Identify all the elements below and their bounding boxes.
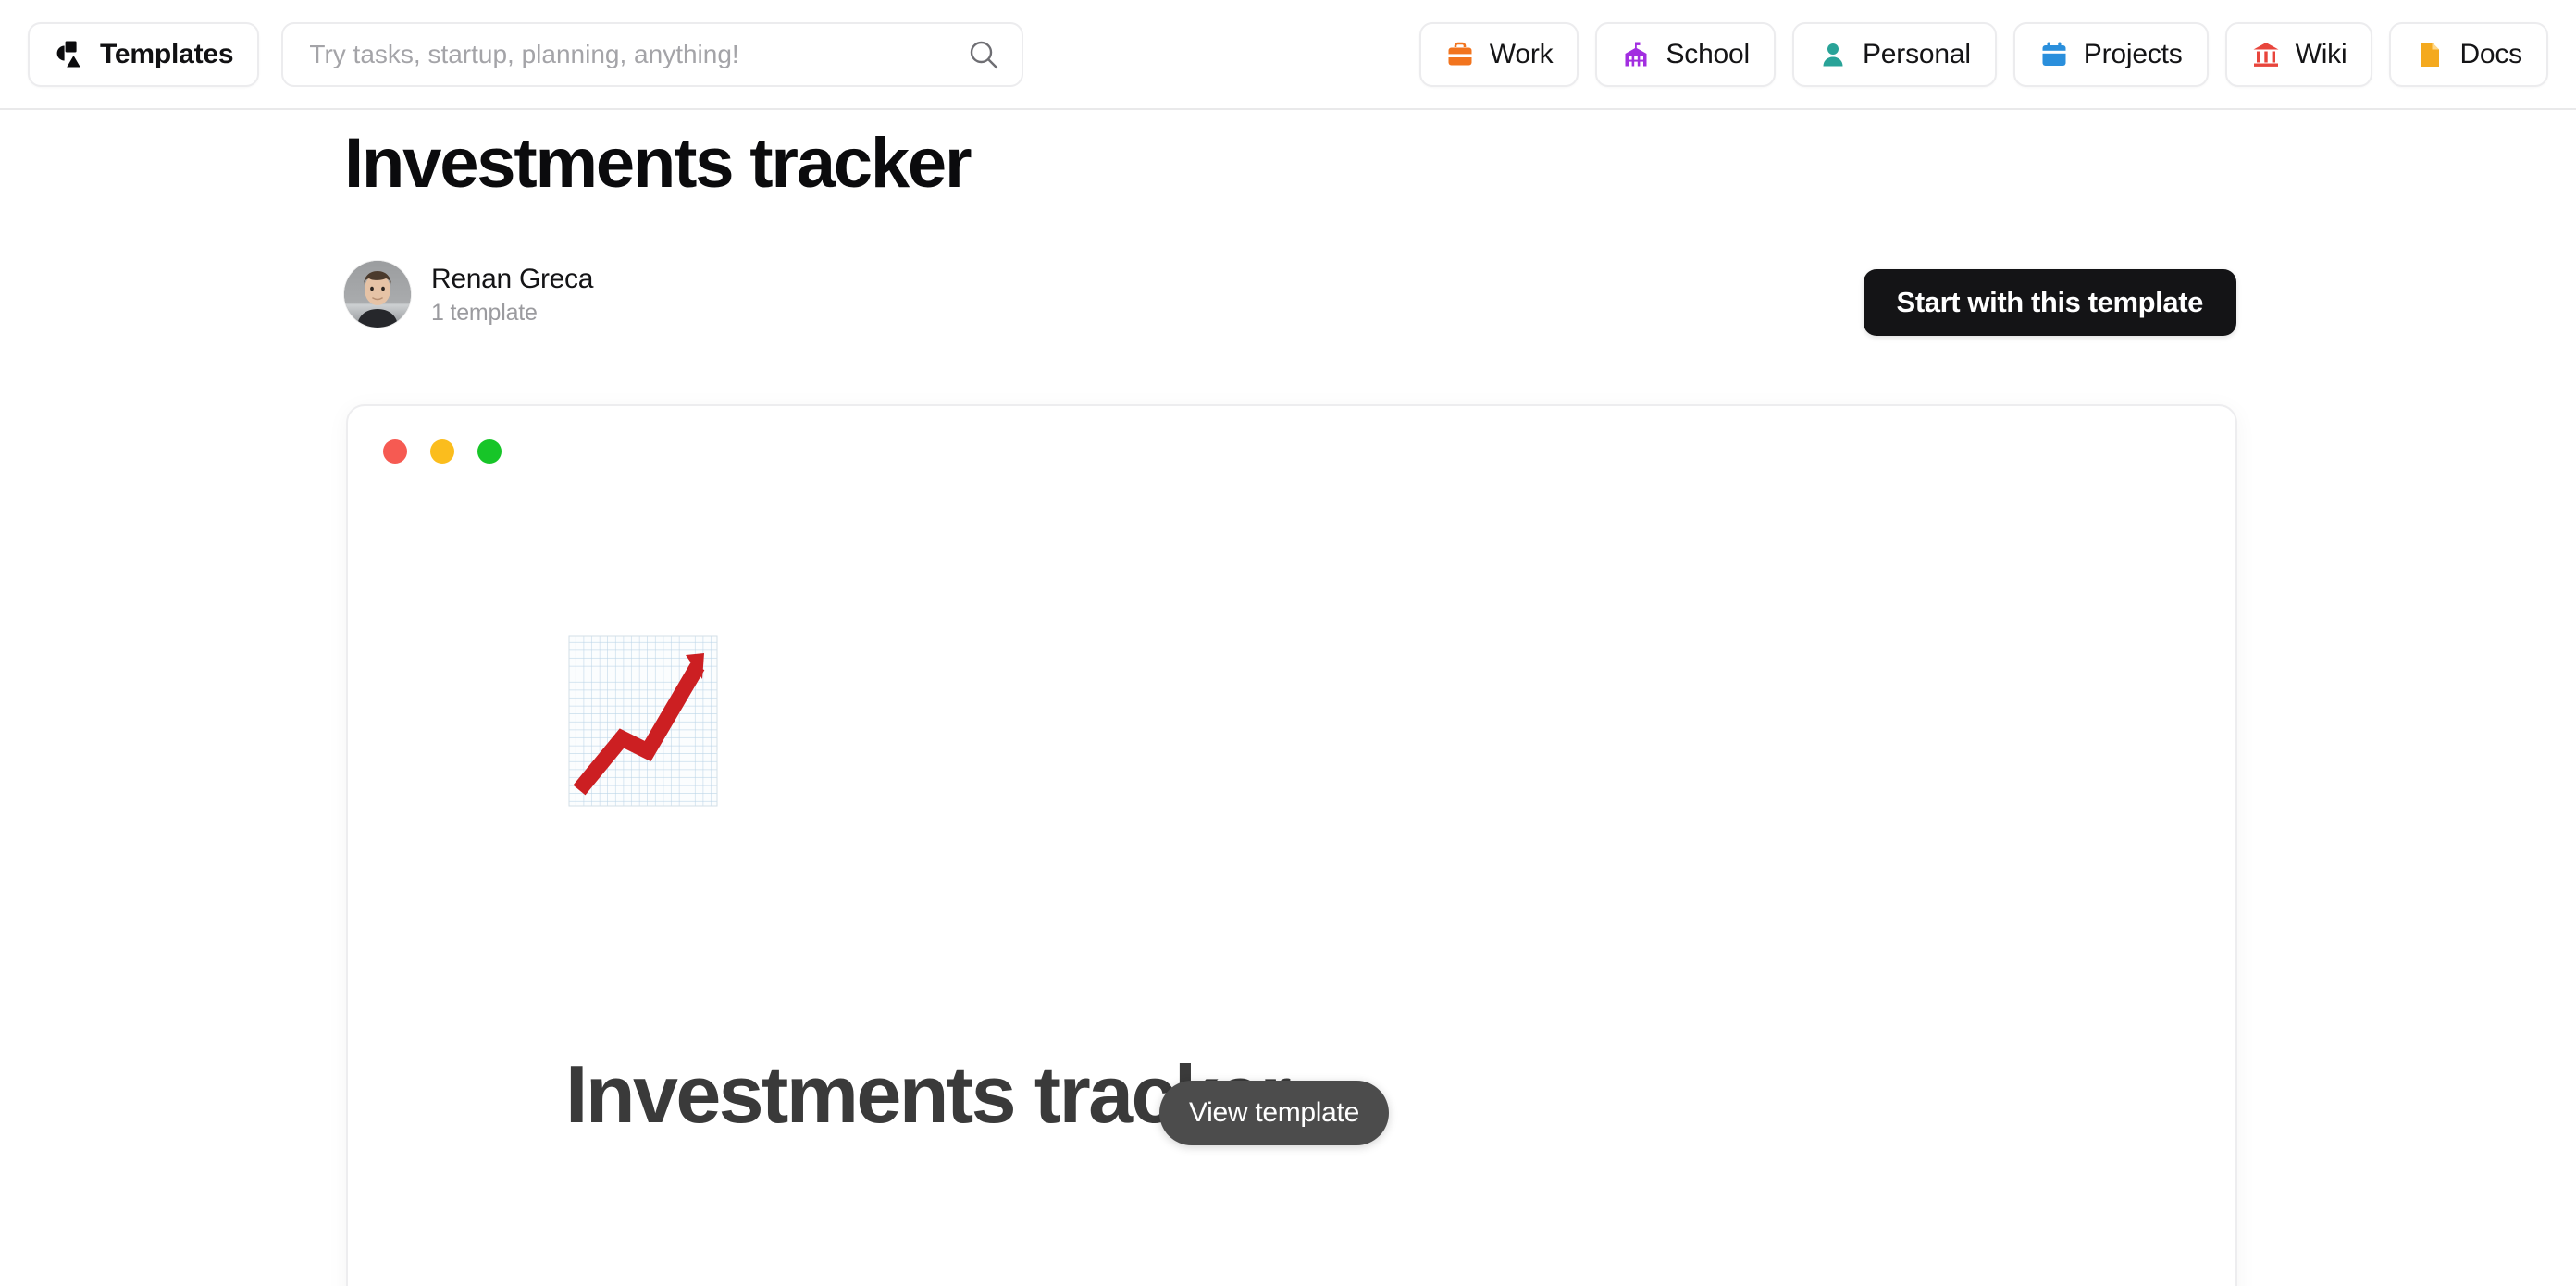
category-filter-group: Work School bbox=[1419, 22, 2548, 87]
calendar-icon bbox=[2039, 40, 2069, 69]
category-button-docs[interactable]: Docs bbox=[2389, 22, 2548, 87]
templates-home-button[interactable]: Templates bbox=[28, 22, 259, 87]
start-with-this-template-button[interactable]: Start with this template bbox=[1864, 269, 2236, 336]
avatar bbox=[344, 261, 411, 328]
category-button-personal[interactable]: Personal bbox=[1792, 22, 1997, 87]
category-label: Personal bbox=[1863, 39, 1971, 70]
page-title: Investments tracker bbox=[344, 124, 970, 203]
category-label: Docs bbox=[2459, 39, 2522, 70]
brand-label: Templates bbox=[100, 39, 233, 70]
search-input[interactable] bbox=[281, 22, 1023, 87]
author-row[interactable]: Renan Greca 1 template bbox=[344, 261, 593, 328]
category-label: Wiki bbox=[2296, 39, 2347, 70]
author-info: Renan Greca 1 template bbox=[431, 262, 593, 328]
category-label: School bbox=[1666, 39, 1750, 70]
chart-increasing-icon bbox=[568, 635, 718, 807]
window-maximize-dot[interactable] bbox=[477, 439, 502, 464]
window-close-dot[interactable] bbox=[383, 439, 407, 464]
category-label: Projects bbox=[2084, 39, 2183, 70]
window-minimize-dot[interactable] bbox=[430, 439, 454, 464]
search-container bbox=[281, 22, 1023, 87]
category-button-projects[interactable]: Projects bbox=[2013, 22, 2209, 87]
top-navigation-bar: Templates Work bbox=[0, 0, 2576, 110]
author-name: Renan Greca bbox=[431, 262, 593, 297]
view-template-tooltip[interactable]: View template bbox=[1159, 1081, 1389, 1145]
school-icon bbox=[1621, 40, 1651, 69]
briefcase-icon bbox=[1445, 40, 1475, 69]
window-controls bbox=[383, 439, 502, 464]
author-template-count: 1 template bbox=[431, 300, 593, 327]
person-icon bbox=[1818, 40, 1848, 69]
page-body: Investments tracker bbox=[0, 110, 2576, 1286]
template-preview-card[interactable]: Investments tracker Investments (Templat… bbox=[346, 404, 2237, 1286]
category-label: Work bbox=[1490, 39, 1554, 70]
category-button-school[interactable]: School bbox=[1595, 22, 1776, 87]
bank-icon bbox=[2251, 40, 2281, 69]
category-button-work[interactable]: Work bbox=[1419, 22, 1579, 87]
category-button-wiki[interactable]: Wiki bbox=[2225, 22, 2373, 87]
document-icon bbox=[2415, 40, 2445, 69]
shapes-icon bbox=[54, 40, 85, 69]
